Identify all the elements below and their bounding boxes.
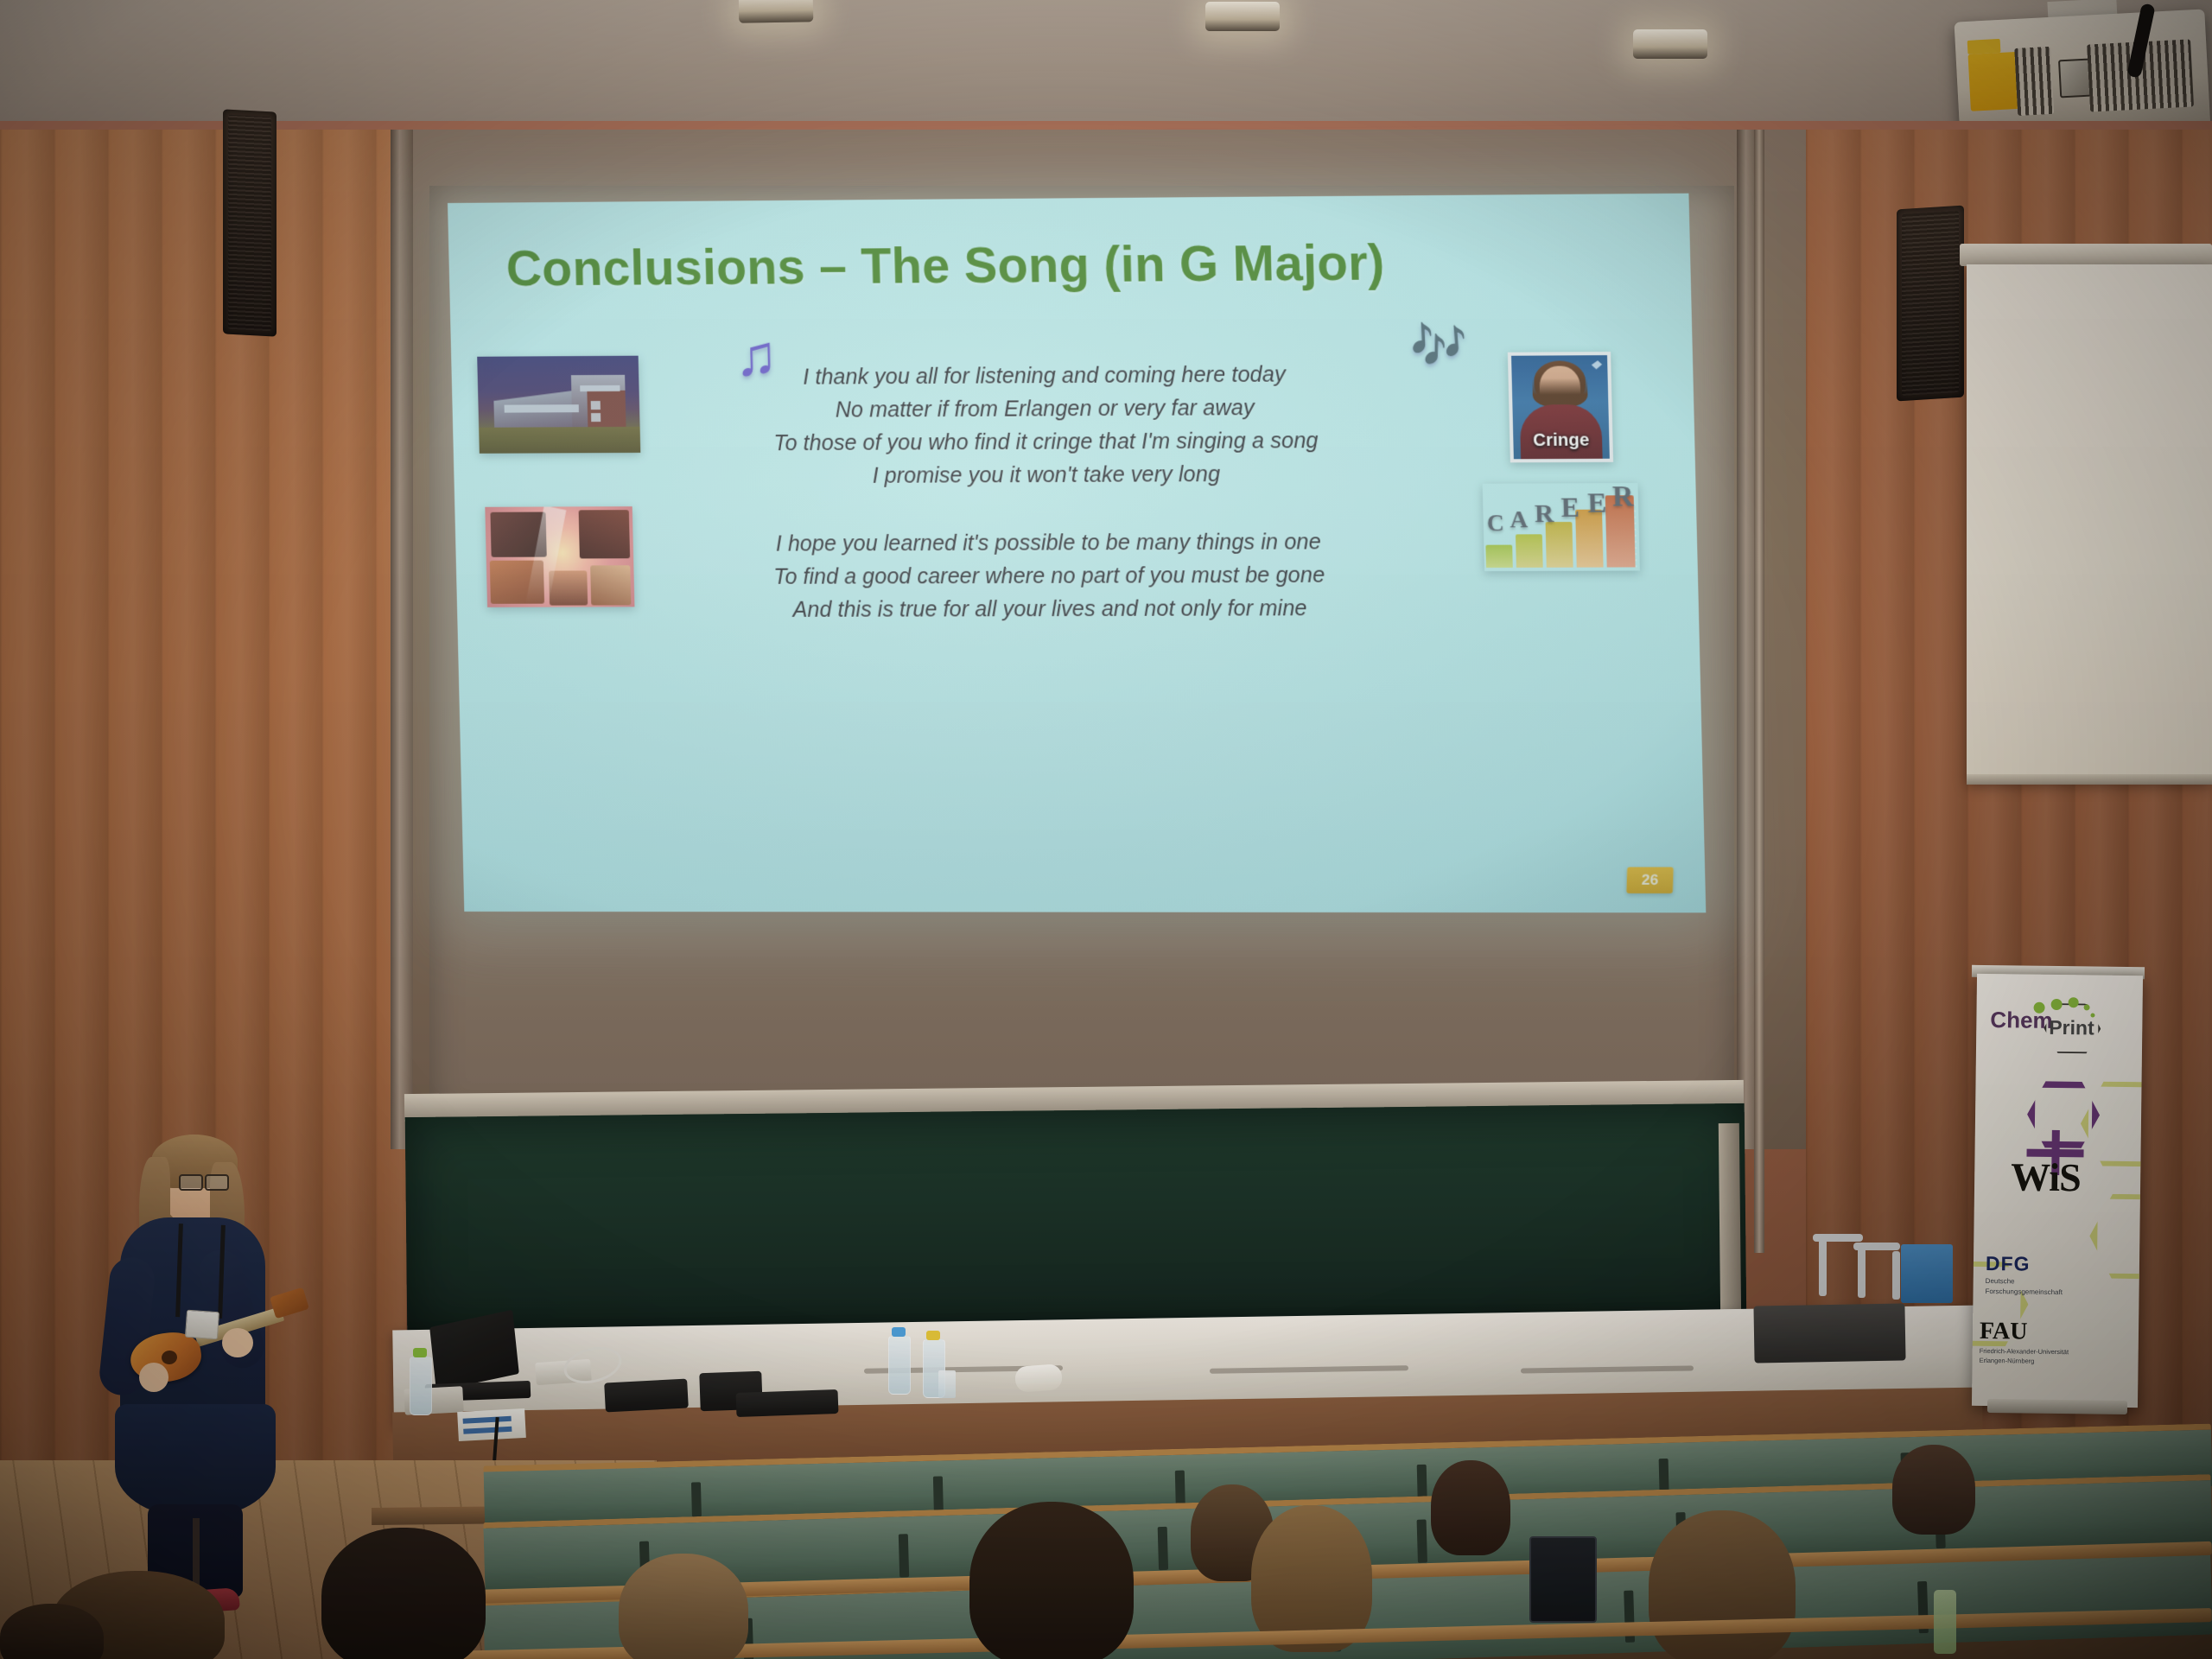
chalkboard xyxy=(405,1103,1747,1333)
dfg-name-line2: Forschungsgemeinschaft xyxy=(1986,1287,2133,1298)
lyrics-line: And this is true for all your lives and … xyxy=(743,592,1357,626)
paper-roll[interactable] xyxy=(1014,1363,1063,1393)
seat-divider xyxy=(1417,1465,1427,1499)
wis-logo: WiS xyxy=(2005,1079,2111,1192)
fau-wordmark: FAU xyxy=(1980,1318,2135,1347)
logo-dot-icon xyxy=(2084,1004,2090,1010)
desk-papers xyxy=(457,1408,526,1441)
chemprint-wordmark-part1: Chem xyxy=(1990,1007,2053,1034)
building-windows xyxy=(591,413,601,422)
ceiling-light xyxy=(739,0,814,23)
dfg-name-line1: Deutsche xyxy=(1986,1277,2133,1287)
slide-image-career-graphic: C A R E E R xyxy=(1483,483,1640,571)
bottle-cap xyxy=(413,1348,427,1357)
presenter-hand-left xyxy=(139,1363,168,1392)
wis-wordmark: WiS xyxy=(2011,1154,2081,1200)
ceiling-light xyxy=(1633,29,1707,59)
slide-image-building xyxy=(477,356,640,454)
career-wordmark: C A R E E R xyxy=(1483,483,1639,537)
projector-vent xyxy=(2014,47,2054,116)
audience-water-bottle[interactable] xyxy=(1934,1590,1956,1654)
broadcast-logo-icon xyxy=(1592,360,1603,369)
lyrics-stanza: I thank you all for listening and coming… xyxy=(737,358,1354,493)
audience-head xyxy=(969,1502,1134,1659)
benzene-ring-icon xyxy=(2027,1080,2101,1150)
seat-divider xyxy=(1158,1527,1168,1570)
wall-pillar-left xyxy=(391,130,413,1149)
seat-divider xyxy=(933,1476,944,1510)
seat-divider xyxy=(1417,1519,1427,1562)
lyrics-line: To find a good career where no part of y… xyxy=(742,558,1357,594)
logo-dot-icon xyxy=(2069,997,2079,1007)
audience-head xyxy=(1892,1445,1975,1535)
sink-basin xyxy=(1753,1303,1905,1363)
collage-panel xyxy=(579,510,631,558)
lanyard xyxy=(175,1224,226,1319)
slide-number-badge: 26 xyxy=(1626,867,1673,893)
building-windows xyxy=(580,385,620,391)
career-letter: E xyxy=(1587,486,1608,519)
dfg-wordmark: DFG xyxy=(1986,1252,2133,1277)
presenter-skirt xyxy=(115,1404,276,1516)
career-letter: R xyxy=(1612,481,1635,514)
dfg-logo: DFG Deutsche Forschungsgemeinschaft xyxy=(1986,1252,2133,1298)
sponsor-banner: Chem Print WiS DFG Deutsche Forschungsge… xyxy=(1972,974,2143,1408)
lecture-hall-photo: Conclusions – The Song (in G Major) ♫ 🎶 xyxy=(0,0,2212,1659)
lyrics-line: I thank you all for listening and coming… xyxy=(737,358,1351,394)
seat-divider xyxy=(1659,1459,1669,1493)
tap[interactable] xyxy=(1819,1236,1827,1296)
audience-head xyxy=(1649,1510,1796,1659)
ceiling-light xyxy=(1205,2,1280,31)
presenter-hand-right xyxy=(222,1328,253,1357)
lyrics-line: No matter if from Erlangen or very far a… xyxy=(738,391,1352,427)
bottle-cap xyxy=(926,1331,940,1340)
conference-badge xyxy=(185,1310,219,1340)
career-letter: A xyxy=(1510,506,1529,535)
presenter xyxy=(65,1128,333,1611)
career-letter: C xyxy=(1486,510,1505,537)
audience-head xyxy=(321,1528,486,1659)
chemprint-wordmark-part2: Print xyxy=(2049,1016,2094,1040)
building-windows xyxy=(591,401,601,410)
lyrics-stanza: I hope you learned it's possible to be m… xyxy=(741,525,1357,626)
wall-speaker-left xyxy=(223,109,276,336)
seat-divider xyxy=(899,1534,909,1577)
audience-tablet[interactable] xyxy=(1529,1536,1597,1623)
roller-screen[interactable] xyxy=(1967,264,2212,783)
audience-head xyxy=(1431,1460,1510,1555)
water-bottle[interactable] xyxy=(410,1357,432,1415)
collage-panel xyxy=(590,565,631,605)
cringe-meme-inner: Cringe xyxy=(1511,355,1610,459)
fau-name-line1: Friedrich-Alexander-Universität xyxy=(1980,1347,2135,1357)
projector-warning-label xyxy=(1968,52,2021,111)
audience-head xyxy=(0,1604,104,1659)
career-bar xyxy=(1485,545,1512,568)
seat-divider xyxy=(691,1482,702,1516)
slide-lyrics: I thank you all for listening and coming… xyxy=(737,358,1357,626)
career-letter: E xyxy=(1560,492,1580,524)
building-brick-section xyxy=(587,391,626,430)
tap[interactable] xyxy=(1858,1244,1866,1298)
drinking-glass[interactable] xyxy=(938,1370,956,1398)
seat-divider xyxy=(1175,1471,1185,1505)
blue-container[interactable] xyxy=(1901,1244,1953,1303)
roller-screen-weight-bar[interactable] xyxy=(1967,774,2212,785)
banner-base xyxy=(1987,1399,2127,1414)
building-windows xyxy=(505,404,579,412)
roller-screen-case xyxy=(1960,244,2212,266)
fau-logo: FAU Friedrich-Alexander-Universität Erla… xyxy=(1980,1318,2136,1367)
wall-pillar-thin xyxy=(1754,130,1764,1253)
slide-title: Conclusions – The Song (in G Major) xyxy=(505,234,1385,298)
desk-equipment[interactable] xyxy=(736,1389,839,1417)
fau-name-line2: Erlangen-Nürnberg xyxy=(1980,1357,2135,1367)
lyrics-line: To those of you who find it cringe that … xyxy=(739,424,1353,461)
tap[interactable] xyxy=(1892,1251,1900,1300)
water-bottle[interactable] xyxy=(888,1336,911,1395)
slide-image-collage xyxy=(485,506,634,607)
desk-equipment[interactable] xyxy=(604,1379,689,1413)
multiple-music-notes-icon: 🎶 xyxy=(1409,319,1468,372)
meme-hair-front xyxy=(1532,378,1588,409)
building-lawn xyxy=(479,427,640,454)
wall-speaker-right xyxy=(1897,206,1964,402)
lyrics-line: I promise you it won't take very long xyxy=(740,457,1354,493)
collage-panel xyxy=(549,570,588,605)
chemprint-logo: Chem Print xyxy=(1988,996,2133,1046)
ukulele-headstock xyxy=(270,1287,309,1319)
projected-slide: Conclusions – The Song (in G Major) ♫ 🎶 xyxy=(448,194,1706,913)
cringe-caption: Cringe xyxy=(1513,430,1610,451)
glasses-icon xyxy=(179,1174,229,1187)
bottle-cap xyxy=(892,1327,906,1337)
chalkboard-edge xyxy=(1719,1123,1741,1322)
career-bar xyxy=(1516,534,1543,568)
career-letter: R xyxy=(1535,499,1555,530)
audience-head xyxy=(619,1554,748,1659)
lyrics-line: I hope you learned it's possible to be m… xyxy=(741,525,1356,561)
slide-image-cringe-meme: Cringe xyxy=(1508,352,1613,462)
